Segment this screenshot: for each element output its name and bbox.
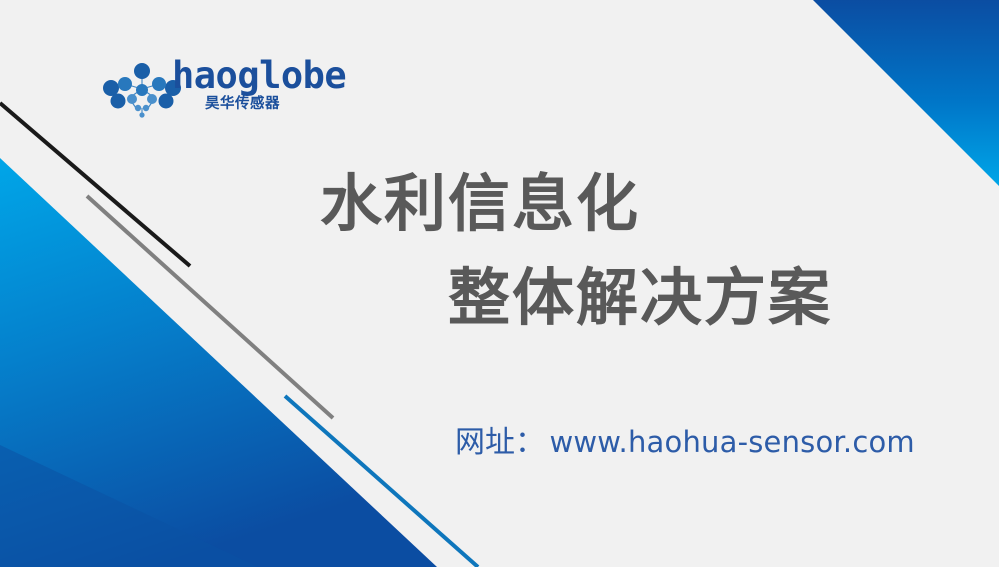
logo-subtext: 昊华传感器 bbox=[205, 95, 280, 113]
website-line: 网址： www.haohua-sensor.com bbox=[455, 420, 915, 470]
logo-wordmark-text: haoglobe bbox=[172, 56, 346, 96]
logo-wordmark-group: haoglobe 昊华传感器 bbox=[172, 58, 314, 120]
title-slide: haoglobe 昊华传感器 水利信息化 整体解决方案 网址： www.haoh… bbox=[0, 0, 999, 567]
website-url[interactable]: www.haohua-sensor.com bbox=[549, 425, 914, 459]
company-logo: haoglobe 昊华传感器 bbox=[96, 58, 312, 120]
website-label: 网址： bbox=[455, 425, 545, 460]
